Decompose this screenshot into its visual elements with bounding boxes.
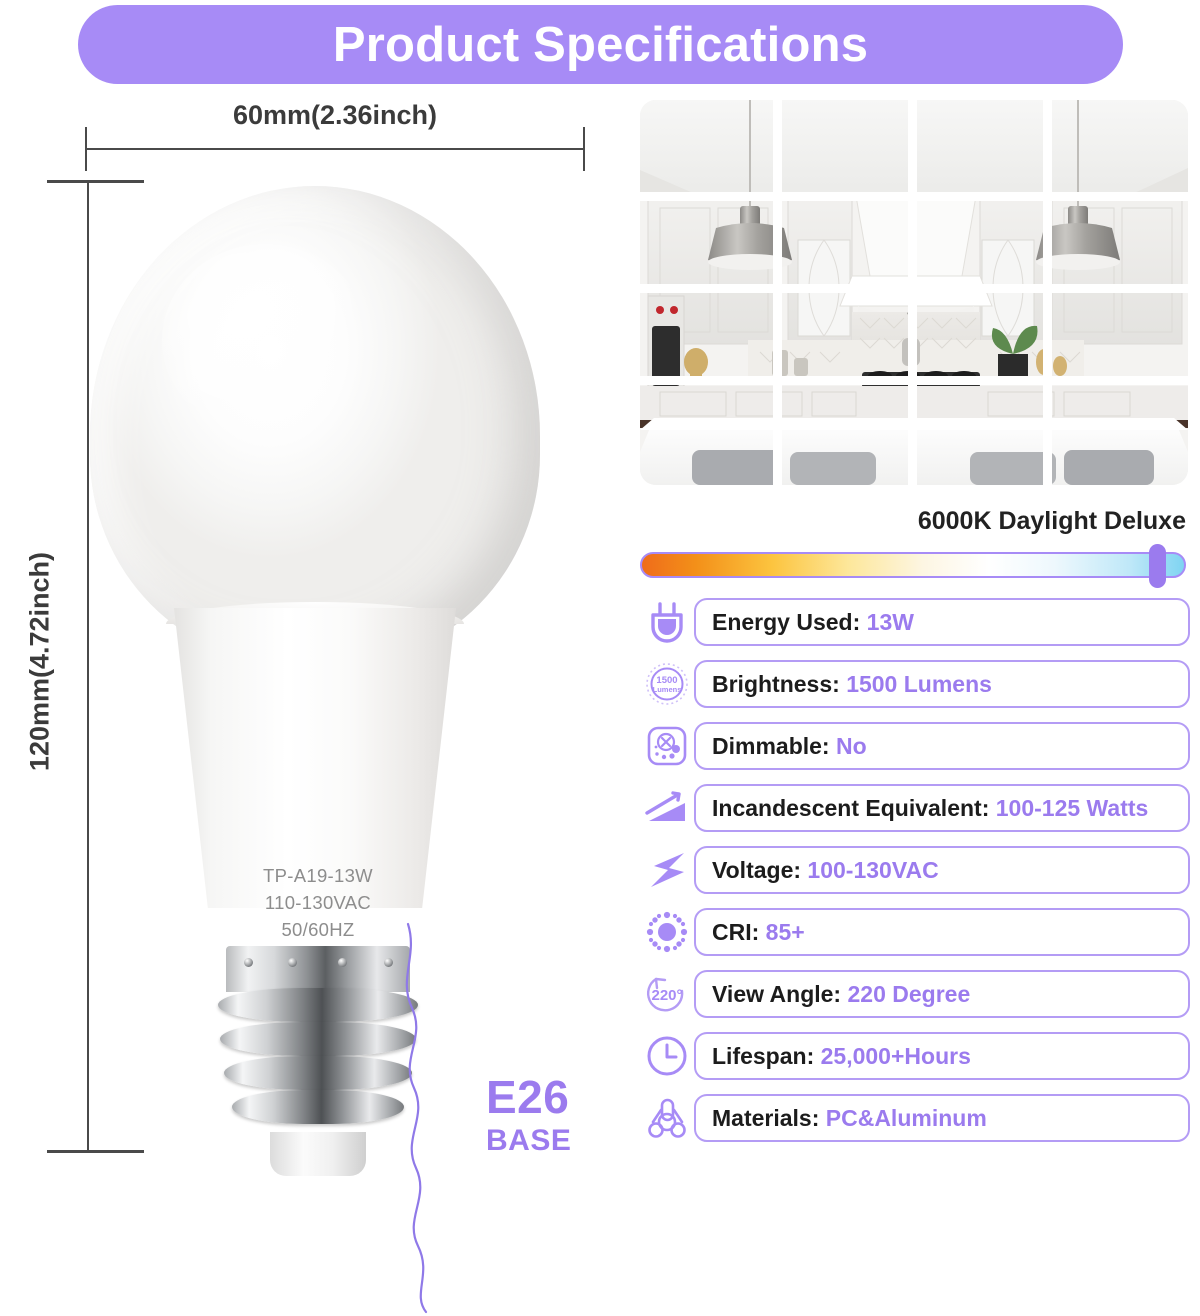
led-bulb-image: TP-A19-13W 110-130VAC 50/60HZ 13W / 6000… (78, 156, 556, 1246)
spec-text-dimmable: Dimmable: No (712, 733, 867, 760)
width-dimension-line (85, 148, 585, 150)
materials-icon (640, 1094, 694, 1142)
sun-icon (640, 908, 694, 956)
spec-row-cri: CRI: 85+ (640, 908, 1190, 956)
bulb-glass-globe (90, 186, 540, 666)
specification-list: Energy Used: 13W 1500 Lumens Br (640, 598, 1190, 1142)
spec-box-materials: Materials: PC&Aluminum (694, 1094, 1190, 1142)
tile-grid-overlay (640, 100, 1188, 485)
spec-row-materials: Materials: PC&Aluminum (640, 1094, 1190, 1142)
base-thread-4 (232, 1090, 404, 1124)
spec-text-view-angle: View Angle: 220 Degree (712, 981, 970, 1008)
page-title: Product Specifications (333, 17, 868, 73)
spec-value-incandescent-equivalent: 100-125 Watts (996, 795, 1149, 821)
bolt-icon (640, 846, 694, 894)
spec-box-voltage: Voltage: 100-130VAC (694, 846, 1190, 894)
svg-text:Lumens: Lumens (653, 685, 682, 694)
spec-text-cri: CRI: 85+ (712, 919, 805, 946)
spec-row-dimmable: Dimmable: No (640, 722, 1190, 770)
ramp-arrow-icon (640, 784, 694, 832)
spec-label-cri: CRI: (712, 919, 759, 945)
spec-box-view-angle: View Angle: 220 Degree (694, 970, 1190, 1018)
spec-row-voltage: Voltage: 100-130VAC (640, 846, 1190, 894)
e26-sublabel: BASE (486, 1126, 571, 1156)
spec-label-energy-used: Energy Used: (712, 609, 860, 635)
dimmer-x-icon (640, 722, 694, 770)
spec-label-lifespan: Lifespan: (712, 1043, 814, 1069)
spec-value-voltage: 100-130VAC (807, 857, 938, 883)
spec-value-materials: PC&Aluminum (826, 1105, 987, 1131)
spec-label-materials: Materials: (712, 1105, 819, 1131)
spec-text-incandescent-equivalent: Incandescent Equivalent: 100-125 Watts (712, 795, 1148, 822)
spec-value-lifespan: 25,000+Hours (821, 1043, 971, 1069)
spec-box-incandescent-equivalent: Incandescent Equivalent: 100-125 Watts (694, 784, 1190, 832)
slider-thumb[interactable] (1149, 544, 1166, 588)
spec-value-cri: 85+ (766, 919, 805, 945)
base-collar (226, 946, 410, 992)
bulb-print-line-2: 110-130VAC (228, 889, 408, 916)
spec-text-energy-used: Energy Used: 13W (712, 609, 914, 636)
base-thread-2 (220, 1022, 416, 1056)
spec-text-brightness: Brightness: 1500 Lumens (712, 671, 992, 698)
clock-icon (640, 1032, 694, 1080)
color-temperature-label: 6000K Daylight Deluxe (640, 507, 1190, 536)
base-contact-tip (270, 1132, 366, 1176)
spec-text-materials: Materials: PC&Aluminum (712, 1105, 987, 1132)
spec-box-brightness: Brightness: 1500 Lumens (694, 660, 1190, 708)
e26-label: E26 (486, 1071, 569, 1123)
spec-value-brightness: 1500 Lumens (846, 671, 992, 697)
spec-box-dimmable: Dimmable: No (694, 722, 1190, 770)
width-dimension-label: 60mm(2.36inch) (85, 100, 585, 131)
spec-label-incandescent-equivalent: Incandescent Equivalent: (712, 795, 989, 821)
base-thread-3 (224, 1056, 412, 1090)
bulb-print-line-1: TP-A19-13W (228, 862, 408, 889)
page-title-banner: Product Specifications (78, 5, 1123, 84)
spec-value-energy-used: 13W (867, 609, 914, 635)
product-spec-infographic: Product Specifications 60mm(2.36inch) 12… (0, 0, 1200, 1200)
lumens-badge-icon: 1500 Lumens (640, 660, 694, 708)
color-temperature-slider[interactable] (640, 552, 1186, 578)
spec-row-lifespan: Lifespan: 25,000+Hours (640, 1032, 1190, 1080)
plug-icon (640, 598, 694, 646)
bulb-dimension-panel: 60mm(2.36inch) 120mm(4.72inch) TP-A19-13… (0, 86, 628, 1200)
spec-value-dimmable: No (836, 733, 867, 759)
spec-box-lifespan: Lifespan: 25,000+Hours (694, 1032, 1190, 1080)
spec-row-incandescent-equivalent: Incandescent Equivalent: 100-125 Watts (640, 784, 1190, 832)
spec-text-voltage: Voltage: 100-130VAC (712, 857, 939, 884)
kitchen-application-photo (640, 100, 1188, 485)
svg-text:220°: 220° (651, 987, 682, 1004)
spec-label-dimmable: Dimmable: (712, 733, 830, 759)
spec-label-view-angle: View Angle: (712, 981, 841, 1007)
width-tick-right (583, 127, 585, 171)
spec-box-cri: CRI: 85+ (694, 908, 1190, 956)
spec-row-brightness: 1500 Lumens Brightness: 1500 Lumens (640, 660, 1190, 708)
spec-value-view-angle: 220 Degree (847, 981, 970, 1007)
spec-row-view-angle: 220° View Angle: 220 Degree (640, 970, 1190, 1018)
spec-label-brightness: Brightness: (712, 671, 840, 697)
spec-label-voltage: Voltage: (712, 857, 801, 883)
spec-box-energy-used: Energy Used: 13W (694, 598, 1190, 646)
e26-base-callout: E26 BASE (486, 1074, 571, 1156)
spec-text-lifespan: Lifespan: 25,000+Hours (712, 1043, 971, 1070)
height-dimension-label: 120mm(4.72inch) (25, 452, 56, 872)
bulb-print-line-3: 50/60HZ (228, 916, 408, 943)
spec-panel: 6000K Daylight Deluxe Energy Used: 13W (640, 100, 1190, 1156)
spec-row-energy-used: Energy Used: 13W (640, 598, 1190, 646)
angle-220-icon: 220° (640, 970, 694, 1018)
